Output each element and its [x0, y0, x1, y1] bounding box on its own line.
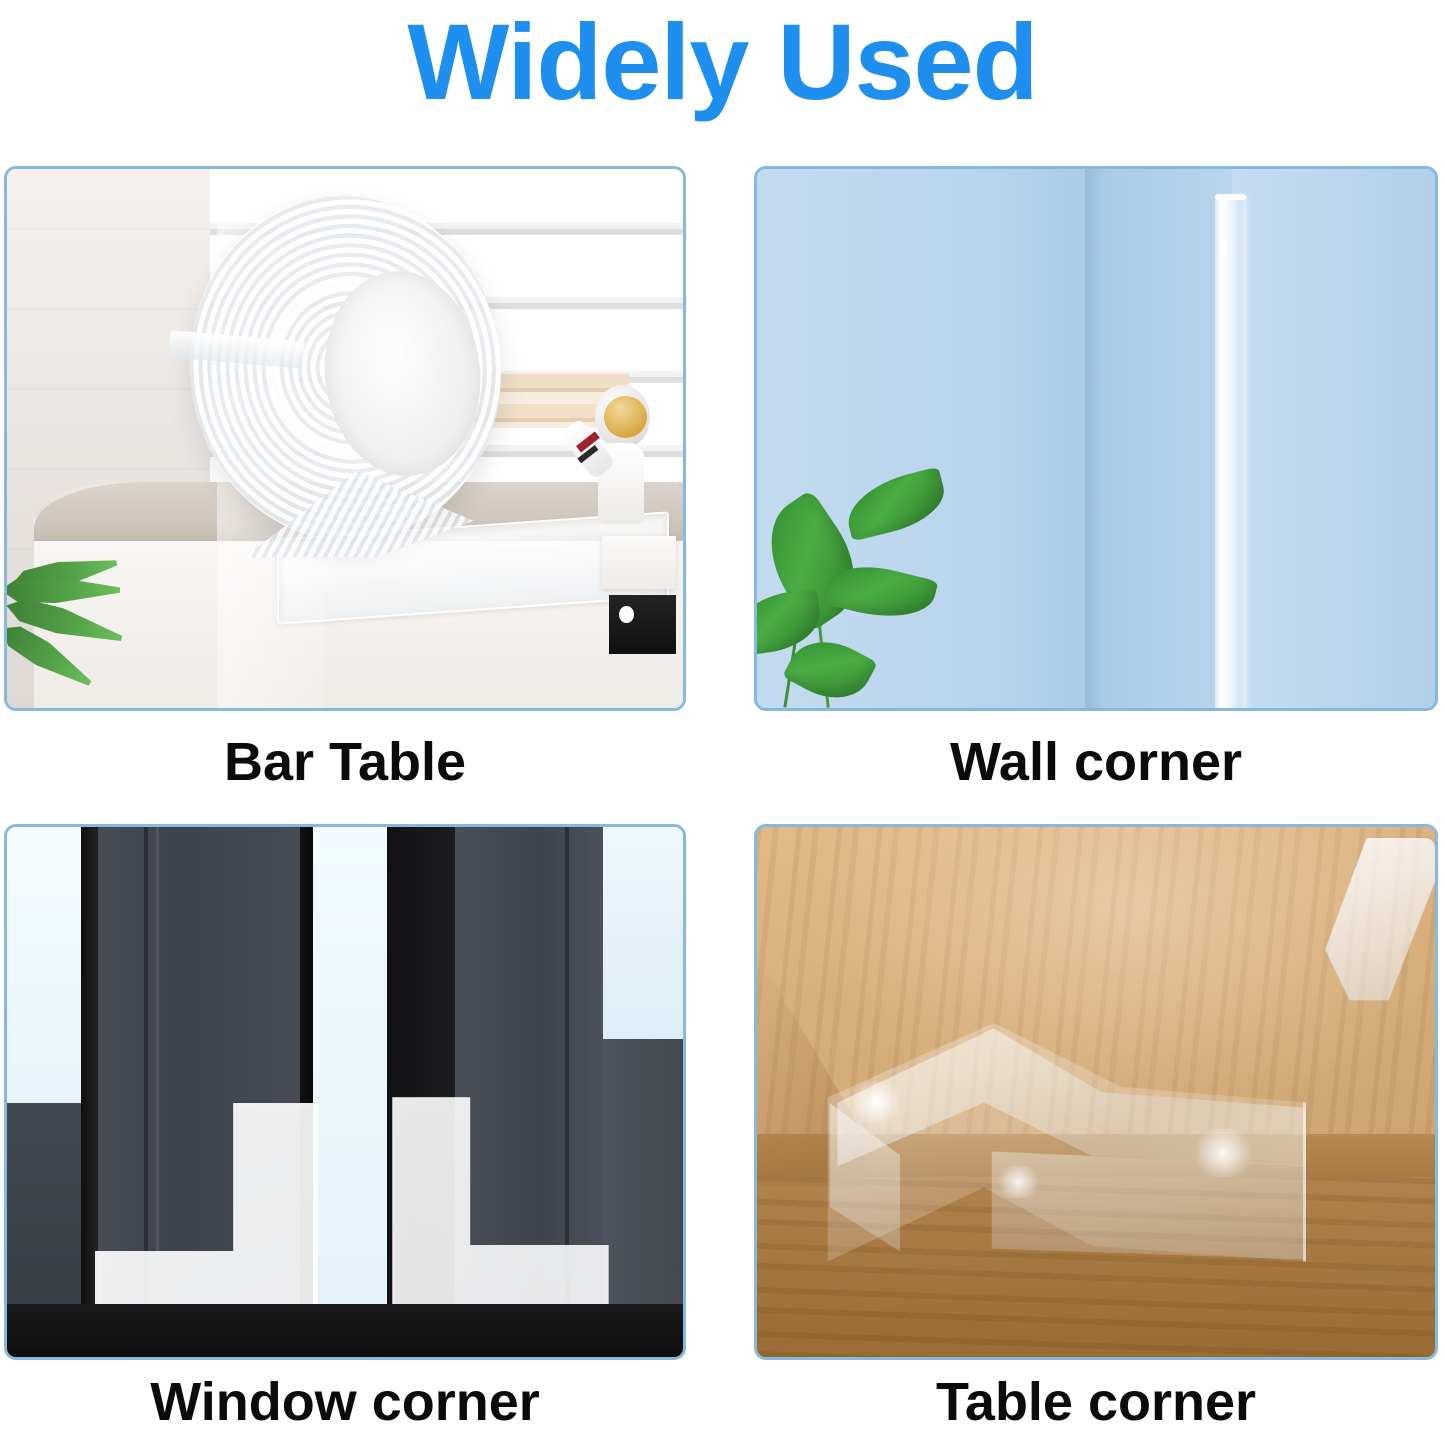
- window-glass-middle: [313, 827, 387, 1357]
- fern-frond: [4, 577, 120, 603]
- scene-wall-corner: [757, 169, 1435, 708]
- sparkle-highlight: [847, 1081, 906, 1123]
- panel-window-corner: [4, 824, 686, 1360]
- plant-leaf: [840, 466, 951, 541]
- caption-table-corner: Table corner: [754, 1372, 1438, 1432]
- window-glass-left: [7, 827, 88, 1124]
- sparkle-highlight: [994, 1166, 1043, 1198]
- scene-window-corner: [7, 827, 683, 1357]
- black-package: [609, 595, 677, 654]
- green-plant: [754, 449, 1042, 708]
- caption-wall-corner: Wall corner: [754, 732, 1438, 792]
- panel-table-corner: [754, 824, 1438, 1360]
- panel-wall-corner: [754, 166, 1438, 711]
- page-title: Widely Used: [0, 2, 1445, 122]
- wall-middle-surface: [1089, 169, 1231, 708]
- strip-highlight: [1220, 196, 1227, 711]
- window-glass-right: [603, 827, 684, 1039]
- corner-shadow: [1085, 169, 1105, 708]
- panel-bar-table: [4, 166, 686, 711]
- caption-window-corner: Window corner: [4, 1372, 686, 1432]
- package-logo-dot: [619, 606, 634, 623]
- scene-bar-table: [7, 169, 683, 708]
- scene-table-corner: [757, 827, 1435, 1357]
- caption-bar-table: Bar Table: [4, 732, 686, 792]
- strip-top-cap: [1215, 194, 1246, 200]
- potted-fern: [4, 557, 149, 708]
- astronaut-figurine: [582, 385, 656, 547]
- clear-l-corner-protector: [818, 1018, 1306, 1283]
- infographic-page: Widely Used: [0, 0, 1445, 1438]
- wall-right-surface: [1232, 169, 1435, 708]
- astronaut-visor: [604, 396, 647, 438]
- white-package: [602, 536, 676, 590]
- window-bottom-frame: [7, 1304, 683, 1357]
- sparkle-highlight: [1189, 1129, 1257, 1177]
